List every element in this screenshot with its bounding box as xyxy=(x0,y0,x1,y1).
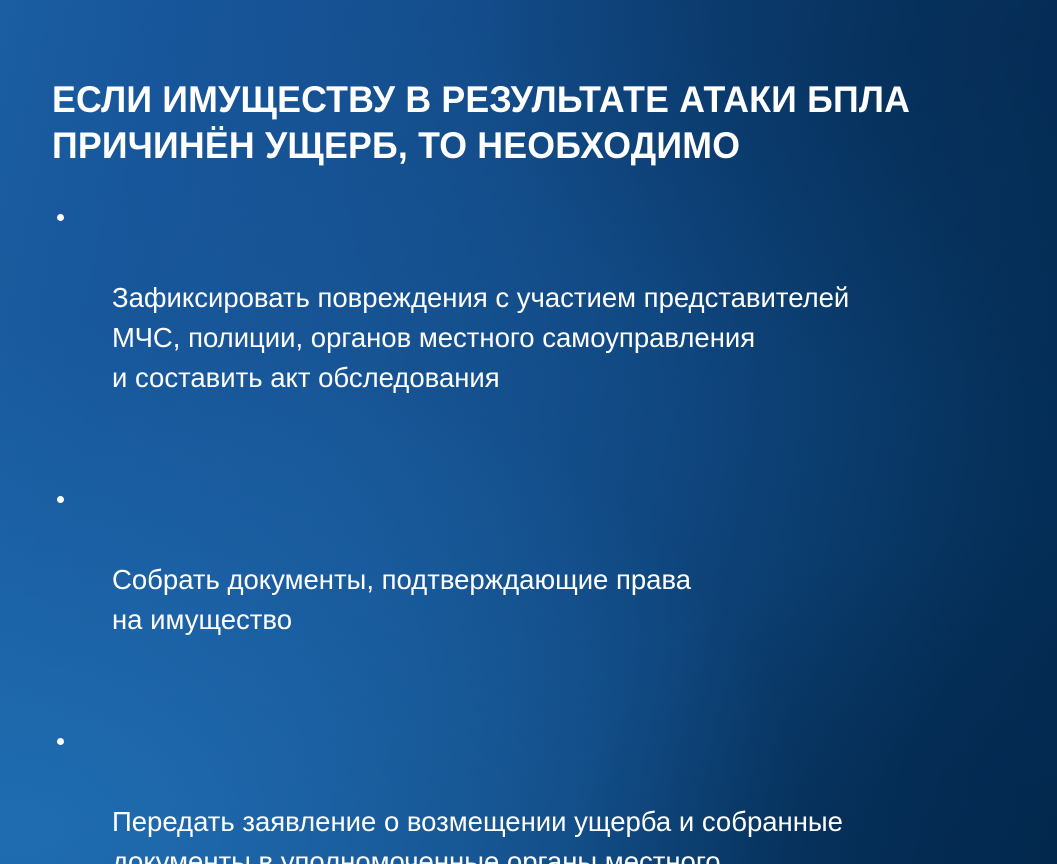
list-item-text: Передать заявление о возмещении ущерба и… xyxy=(112,802,1027,864)
list-item-text: Зафиксировать повреждения с участием пре… xyxy=(112,278,1027,398)
slide-content: ЕСЛИ ИМУЩЕСТВУ В РЕЗУЛЬТАТЕ АТАКИ БПЛА П… xyxy=(0,0,1057,864)
dot-bullet-icon xyxy=(57,738,64,745)
bullet-list: Зафиксировать повреждения с участием пре… xyxy=(52,198,1027,864)
list-item: Передать заявление о возмещении ущерба и… xyxy=(52,722,1027,864)
slide-canvas: ЕСЛИ ИМУЩЕСТВУ В РЕЗУЛЬТАТЕ АТАКИ БПЛА П… xyxy=(0,0,1057,864)
dot-bullet-icon xyxy=(57,496,64,503)
list-item: Зафиксировать повреждения с участием пре… xyxy=(52,198,1027,438)
list-item-text: Собрать документы, подтверждающие права … xyxy=(112,560,1027,640)
dot-bullet-icon xyxy=(57,214,64,221)
list-item: Собрать документы, подтверждающие права … xyxy=(52,480,1027,680)
page-title: ЕСЛИ ИМУЩЕСТВУ В РЕЗУЛЬТАТЕ АТАКИ БПЛА П… xyxy=(52,77,998,169)
